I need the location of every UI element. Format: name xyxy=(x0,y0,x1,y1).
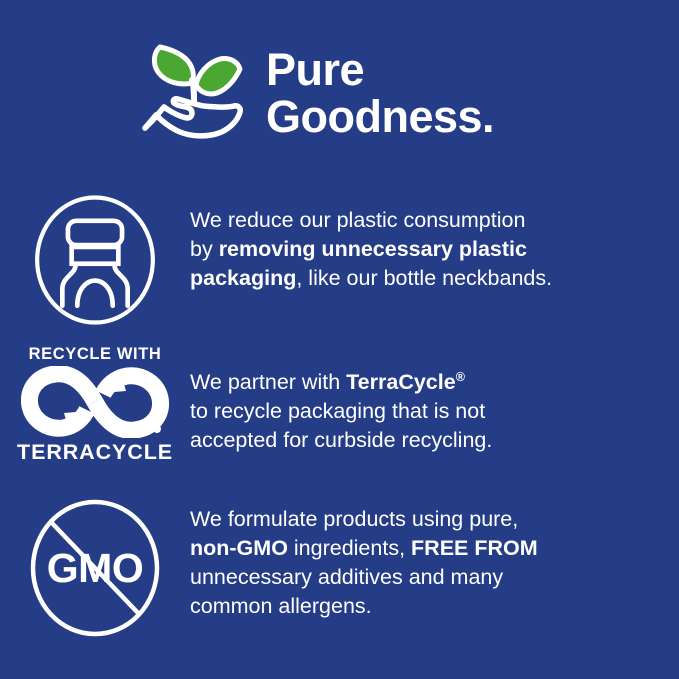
no-gmo-icon: GMO xyxy=(22,495,168,641)
benefit-row-plastic: We reduce our plastic consumptionby remo… xyxy=(0,190,679,335)
icon-column: GMO xyxy=(0,495,190,641)
benefit-row-terracycle: RECYCLE WITH TERRACYCLE We partner with … xyxy=(0,345,679,464)
text-line: We partner with TerraCycle® xyxy=(190,363,665,397)
icon-column: RECYCLE WITH TERRACYCLE xyxy=(0,345,190,464)
header: Pure Goodness. xyxy=(0,26,679,156)
text-line: common allergens. xyxy=(190,592,665,621)
infinity-recycle-icon xyxy=(21,366,169,438)
icon-column xyxy=(0,190,190,335)
text-line: unnecessary additives and many xyxy=(190,563,665,592)
benefit-row-gmo: GMO We formulate products using pure,non… xyxy=(0,495,679,641)
text-line: by removing unnecessary plastic xyxy=(190,235,665,264)
text-line: to recycle packaging that is not xyxy=(190,397,665,426)
text-line: We formulate products using pure, xyxy=(190,505,665,534)
benefit-text-terracycle: We partner with TerraCycle®to recycle pa… xyxy=(190,345,679,455)
text-line: We reduce our plastic consumption xyxy=(190,206,665,235)
page-title: Pure Goodness. xyxy=(266,26,494,140)
benefit-text-gmo: We formulate products using pure,non-GMO… xyxy=(190,495,679,621)
page-title-line-2: Goodness. xyxy=(266,93,494,140)
page-title-line-1: Pure xyxy=(266,44,364,95)
terracycle-logo: RECYCLE WITH TERRACYCLE xyxy=(21,345,169,464)
gmo-label: GMO xyxy=(22,495,168,641)
terracycle-top-text: RECYCLE WITH xyxy=(29,345,162,363)
text-line: accepted for curbside recycling. xyxy=(190,426,665,455)
sprout-in-hand-logo xyxy=(140,36,252,151)
bottle-neckband-icon xyxy=(25,190,165,335)
benefit-text-plastic: We reduce our plastic consumptionby remo… xyxy=(190,190,679,293)
text-line: packaging, like our bottle neckbands. xyxy=(190,264,665,293)
terracycle-bottom-text: TERRACYCLE xyxy=(17,440,173,464)
infographic-page: Pure Goodness. We reduc xyxy=(0,0,679,679)
text-line: non-GMO ingredients, FREE FROM xyxy=(190,534,665,563)
